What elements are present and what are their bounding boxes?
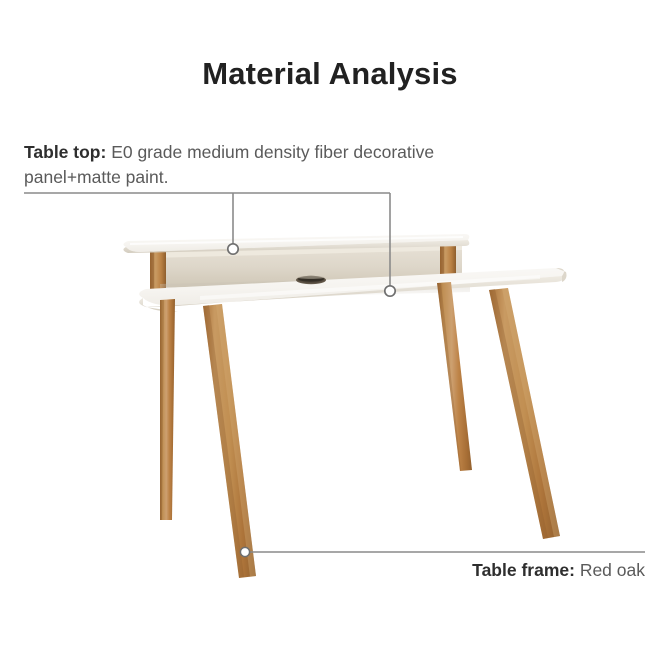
- leg-front-right: [489, 288, 560, 539]
- callout-table-frame: Table frame: Red oak: [330, 558, 645, 582]
- shelf-riser-right: [440, 244, 456, 277]
- leg-front-left: [203, 304, 256, 578]
- callout-table-top: Table top: E0 grade medium density fiber…: [24, 140, 454, 190]
- callout-table-top-label: Table top:: [24, 142, 106, 162]
- callout-table-frame-label: Table frame:: [472, 560, 575, 580]
- leg-back-left: [160, 299, 175, 520]
- infographic-canvas: Material Analysis: [0, 0, 660, 660]
- leg-back-right: [437, 282, 472, 471]
- callout-table-frame-description: Red oak: [580, 560, 645, 580]
- cable-grommet: [296, 276, 326, 284]
